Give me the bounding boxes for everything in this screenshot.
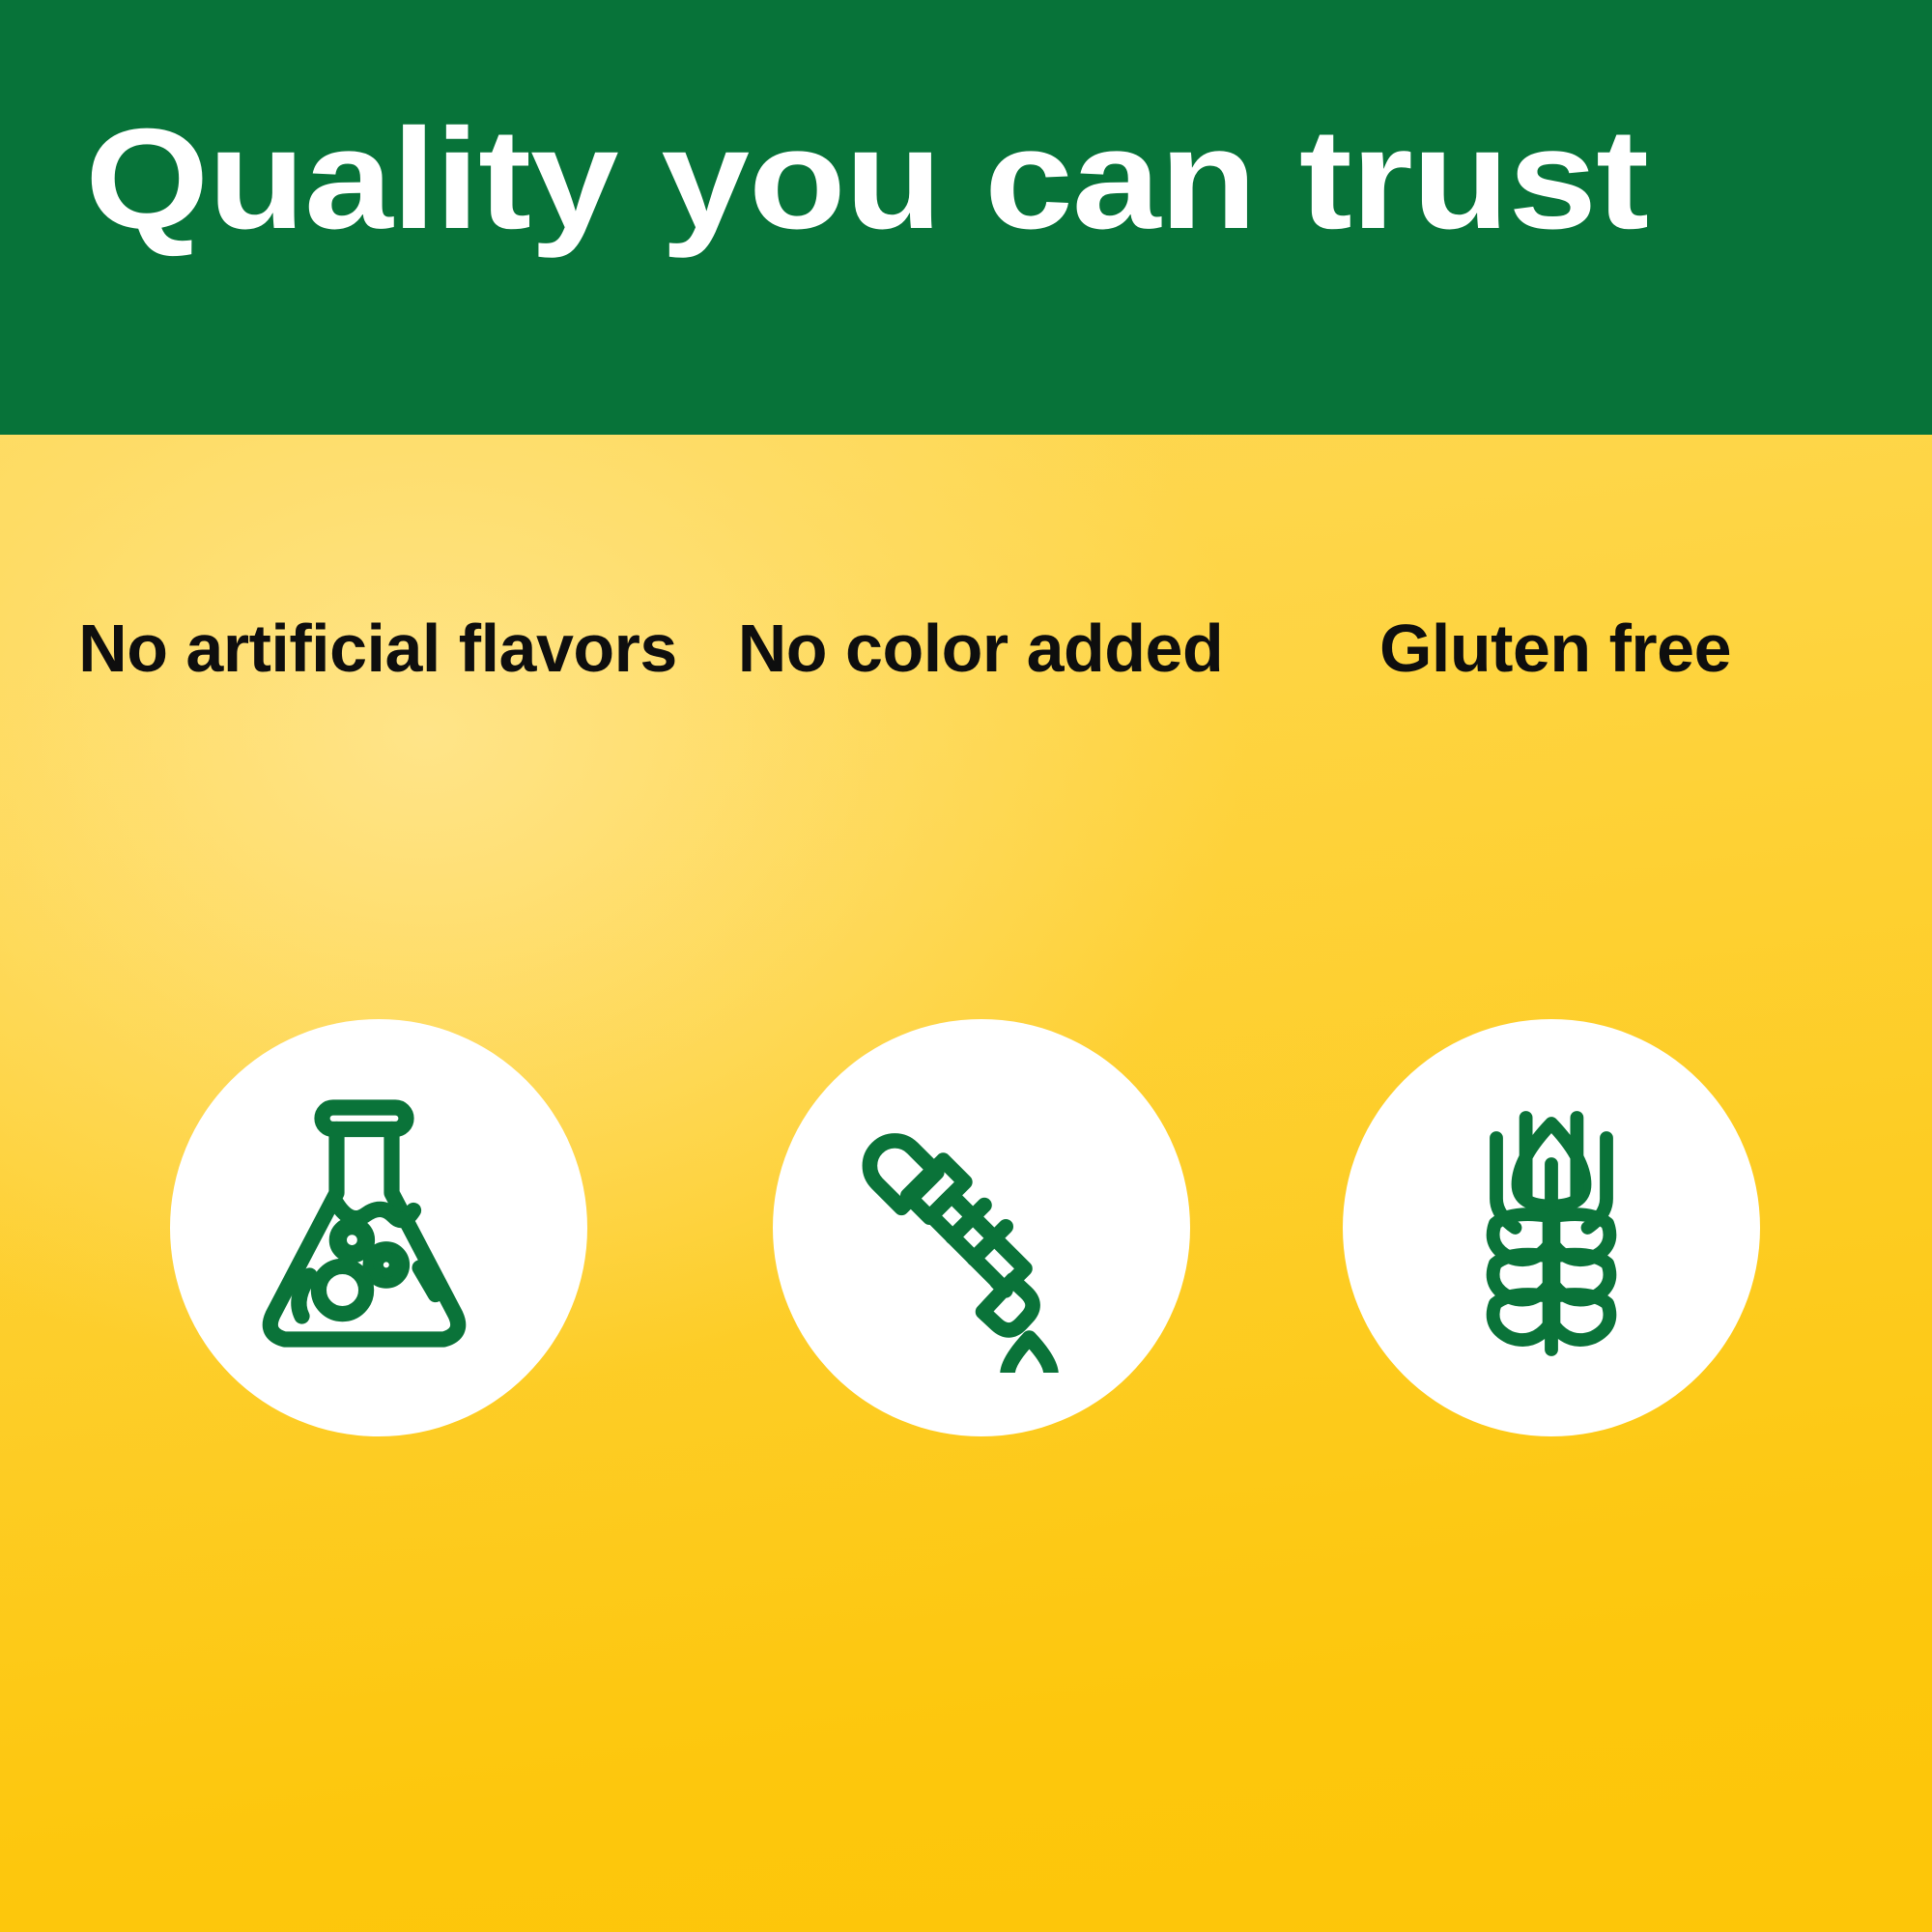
feature-label-no-color-added: No color added xyxy=(681,611,1280,687)
header-band: Quality you can trust xyxy=(0,0,1932,435)
flask-icon xyxy=(234,1083,524,1373)
feature-gluten-free: Gluten free xyxy=(1256,435,1855,1932)
feature-row: No artificial flavors xyxy=(0,435,1932,1932)
icon-disc-wheat xyxy=(1343,1019,1760,1436)
feature-no-color-added: No color added xyxy=(681,435,1280,1932)
feature-no-artificial-flavors: No artificial flavors xyxy=(78,435,677,1932)
page-title: Quality you can trust xyxy=(85,108,1932,251)
dropper-icon xyxy=(837,1083,1126,1373)
icon-disc-flask xyxy=(170,1019,587,1436)
promo-graphic: Quality you can trust No artificial flav… xyxy=(0,0,1932,1932)
feature-label-gluten-free: Gluten free xyxy=(1256,611,1855,687)
feature-label-no-artificial-flavors: No artificial flavors xyxy=(78,611,677,687)
wheat-icon xyxy=(1406,1083,1696,1373)
icon-disc-dropper xyxy=(773,1019,1190,1436)
